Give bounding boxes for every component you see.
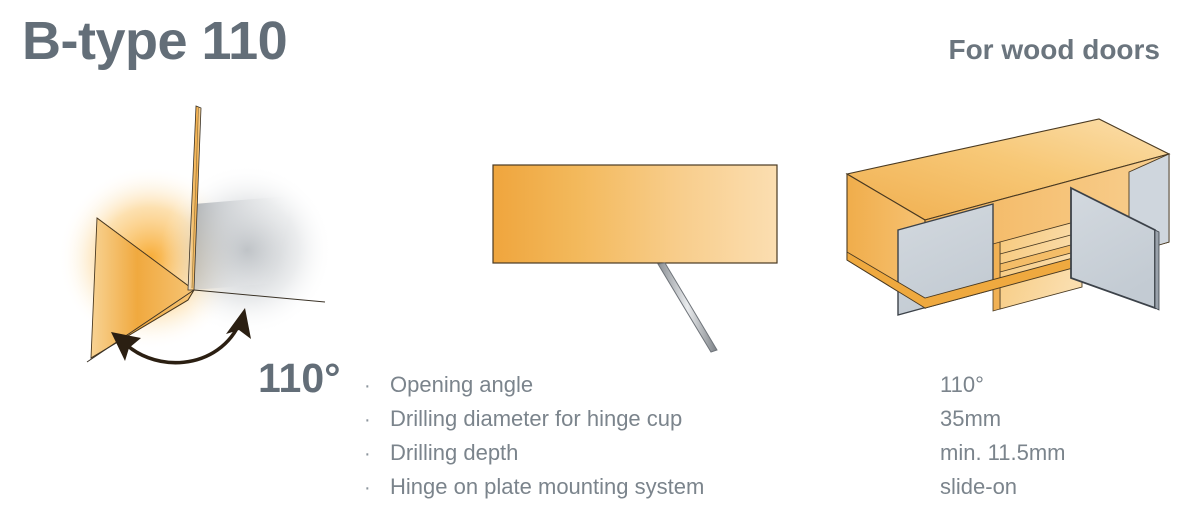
spec-value: 110° — [940, 368, 1175, 402]
spec-label-list: · Opening angle · Drilling diameter for … — [364, 368, 884, 504]
wood-door-panel-diagram — [455, 130, 815, 370]
spec-row: · Drilling depth — [364, 436, 884, 470]
cabinet-isometric-diagram — [835, 112, 1178, 322]
bullet-icon: · — [364, 369, 390, 403]
spec-label: Hinge on plate mounting system — [390, 470, 704, 504]
door-panel-rect — [493, 165, 777, 263]
leader-line — [658, 263, 717, 352]
spec-value: min. 11.5mm — [940, 436, 1175, 470]
cabinet-door-open-edge — [1155, 230, 1159, 310]
header-right-label: For wood doors — [948, 36, 1160, 64]
spec-value: slide-on — [940, 470, 1175, 504]
spec-label: Opening angle — [390, 368, 533, 402]
spec-row: · Hinge on plate mounting system — [364, 470, 884, 504]
spec-row: · Drilling diameter for hinge cup — [364, 402, 884, 436]
door-opening-angle-diagram — [55, 100, 365, 390]
opening-angle-callout: 110° — [258, 358, 341, 399]
spec-value: 35mm — [940, 402, 1175, 436]
bullet-icon: · — [364, 471, 390, 505]
cabinet-centre-divider — [993, 242, 1000, 311]
spec-label: Drilling depth — [390, 436, 518, 470]
spec-row: · Opening angle — [364, 368, 884, 402]
bullet-icon: · — [364, 437, 390, 471]
bullet-icon: · — [364, 403, 390, 437]
spec-value-list: 110° 35mm min. 11.5mm slide-on — [940, 368, 1175, 504]
spec-label: Drilling diameter for hinge cup — [390, 402, 682, 436]
cabinet-side-panel — [194, 196, 290, 290]
page-title: B-type 110 — [22, 14, 287, 68]
